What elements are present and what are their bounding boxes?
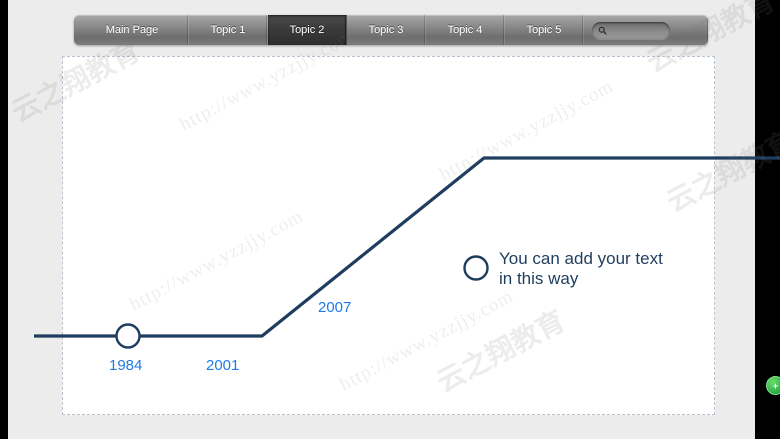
search-icon <box>598 26 607 35</box>
nav-item-topic-1[interactable]: Topic 1 <box>189 15 268 45</box>
timeline-year-label-1984: 1984 <box>109 357 142 374</box>
nav-item-topic-5[interactable]: Topic 5 <box>505 15 584 45</box>
nav-item-topic-3[interactable]: Topic 3 <box>347 15 426 45</box>
screenshot-stage: 1984 2001 2007 You can add your text in … <box>0 0 780 439</box>
nav-item-topic-2[interactable]: Topic 2 <box>268 15 347 45</box>
top-navigation-bar: Main Page Topic 1 Topic 2 Topic 3 Topic … <box>74 15 708 45</box>
search-input[interactable] <box>592 22 670 39</box>
timeline-year-label-2001: 2001 <box>206 357 239 374</box>
nav-item-label: Topic 5 <box>527 24 562 36</box>
callout-text: You can add your text in this way <box>499 249 699 289</box>
green-badge-label: + <box>773 381 778 391</box>
nav-search-area[interactable] <box>584 15 708 45</box>
nav-item-label: Topic 2 <box>290 24 325 36</box>
nav-item-topic-4[interactable]: Topic 4 <box>426 15 505 45</box>
nav-item-label: Main Page <box>106 24 159 36</box>
nav-item-main-page[interactable]: Main Page <box>74 15 189 45</box>
timeline-year-label-2007: 2007 <box>318 299 351 316</box>
nav-item-label: Topic 1 <box>211 24 246 36</box>
green-status-badge[interactable]: + <box>766 376 780 395</box>
slide-canvas <box>62 56 715 415</box>
nav-item-label: Topic 4 <box>448 24 483 36</box>
callout-text-line2: in this way <box>499 269 699 289</box>
nav-item-label: Topic 3 <box>369 24 404 36</box>
callout-text-line1: You can add your text <box>499 249 699 269</box>
